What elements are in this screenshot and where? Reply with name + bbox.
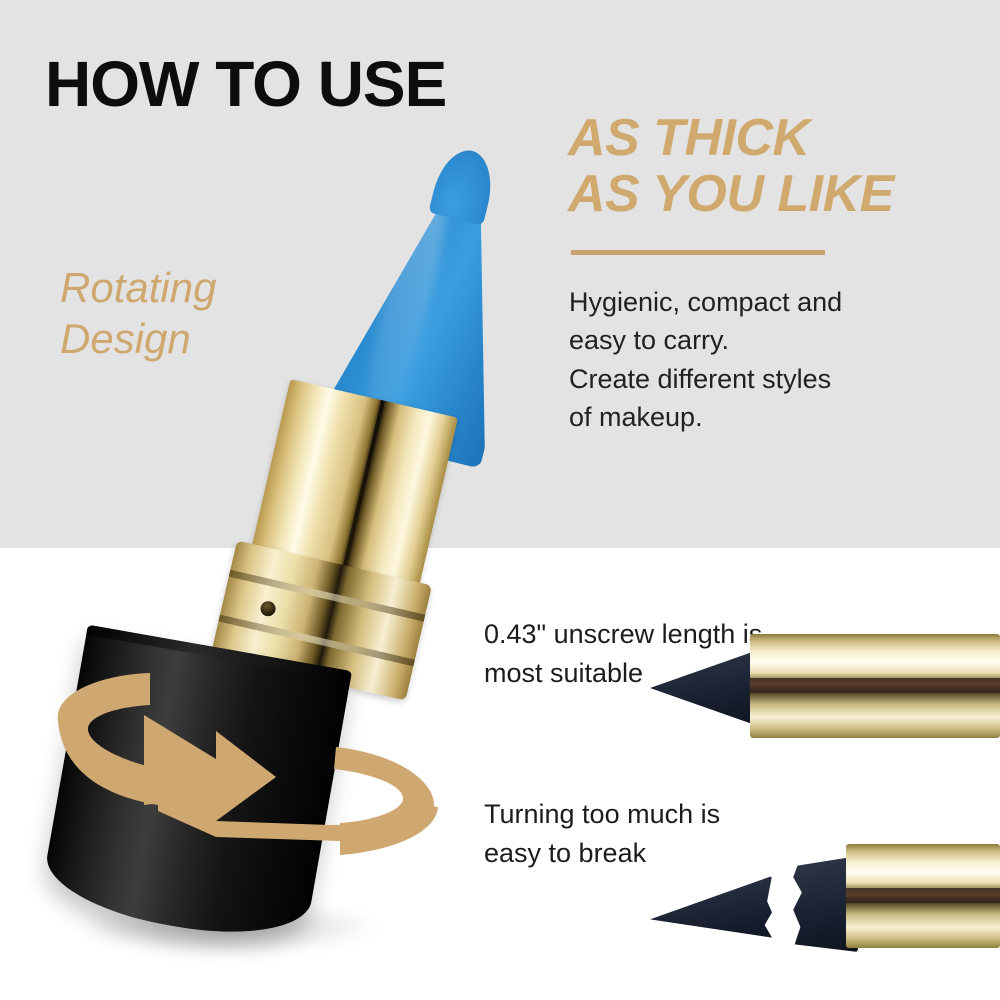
blue-tip-apex bbox=[428, 144, 499, 225]
rotation-arrow-svg bbox=[40, 655, 460, 885]
feature-headline: AS THICK AS YOU LIKE bbox=[568, 110, 894, 222]
rotation-arrow-icon bbox=[40, 655, 460, 885]
main-product-illustration bbox=[0, 0, 560, 1000]
intact-pen-stripe bbox=[750, 678, 1000, 694]
broken-pen-photo bbox=[650, 828, 1000, 988]
feature-headline-line-2: AS YOU LIKE bbox=[568, 166, 894, 222]
broken-pen-barrel bbox=[846, 844, 1000, 948]
intact-pen-barrel bbox=[750, 634, 1000, 738]
collar-pin-hole bbox=[259, 600, 277, 618]
feature-body-line-2: easy to carry. bbox=[569, 321, 969, 359]
intact-pen-photo bbox=[650, 612, 1000, 762]
feature-body-line-4: of makeup. bbox=[569, 398, 969, 436]
rotation-ribbon-left bbox=[58, 673, 158, 805]
gold-collar-groove-upper bbox=[229, 570, 425, 622]
broken-pen-stripe bbox=[846, 888, 1000, 904]
feature-body-line-3: Create different styles bbox=[569, 360, 969, 398]
gold-divider-rule bbox=[571, 250, 825, 255]
feature-headline-line-1: AS THICK bbox=[568, 109, 810, 167]
broken-tip-fragment bbox=[650, 876, 772, 946]
feature-body-line-1: Hygienic, compact and bbox=[569, 283, 969, 321]
feature-body-text: Hygienic, compact and easy to carry. Cre… bbox=[569, 283, 969, 436]
infographic-canvas: HOW TO USE Rotating Design AS THICK AS Y… bbox=[0, 0, 1000, 1000]
intact-pen-tip bbox=[650, 650, 758, 726]
